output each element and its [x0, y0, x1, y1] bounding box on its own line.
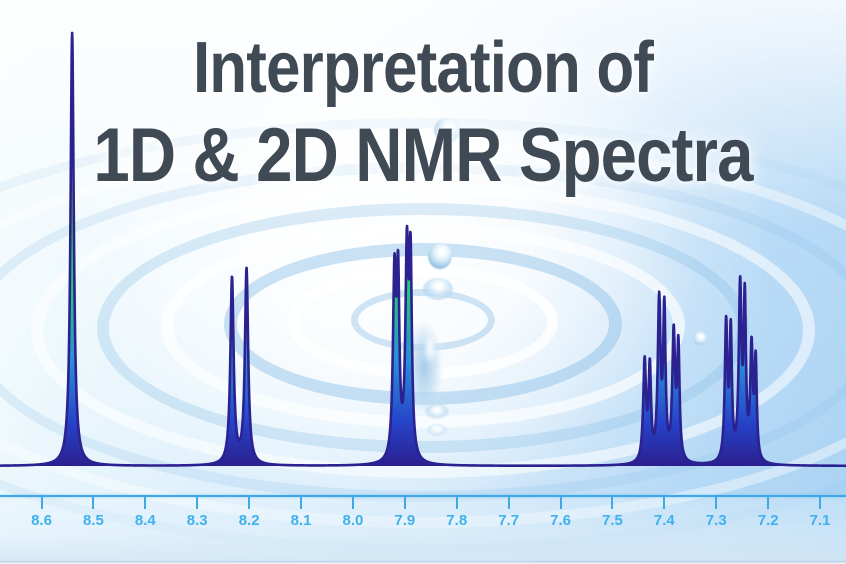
- axis-tick: [508, 496, 510, 509]
- axis-tick: [248, 496, 250, 509]
- nmr-poster: Interpretation of 1D & 2D NMR Spectra: [0, 0, 846, 564]
- axis-tick: [196, 496, 198, 509]
- axis-tick: [92, 496, 94, 509]
- ppm-axis: 8.68.58.48.38.28.18.07.97.87.77.67.57.47…: [0, 495, 846, 564]
- axis-tick-label: 8.1: [291, 512, 312, 529]
- axis-tick: [611, 496, 613, 509]
- axis-tick-label: 7.7: [498, 512, 519, 529]
- axis-tick-label: 8.0: [342, 512, 363, 529]
- axis-tick: [767, 496, 769, 509]
- axis-tick-label: 7.6: [550, 512, 571, 529]
- axis-tick-label: 8.5: [83, 512, 104, 529]
- axis-tick: [300, 496, 302, 509]
- axis-tick-label: 8.4: [135, 512, 156, 529]
- page-title: Interpretation of 1D & 2D NMR Spectra: [0, 28, 846, 198]
- axis-tick: [404, 496, 406, 509]
- axis-tick-label: 7.2: [758, 512, 779, 529]
- axis-tick-label: 8.6: [31, 512, 52, 529]
- axis-tick: [560, 496, 562, 509]
- axis-tick: [144, 496, 146, 509]
- axis-tick-label: 7.1: [810, 512, 831, 529]
- axis-tick: [663, 496, 665, 509]
- title-line-2: 1D & 2D NMR Spectra: [59, 114, 787, 198]
- axis-tick-label: 7.4: [654, 512, 675, 529]
- axis-tick-label: 7.8: [446, 512, 467, 529]
- title-line-1: Interpretation of: [59, 28, 787, 108]
- axis-tick: [715, 496, 717, 509]
- axis-tick: [456, 496, 458, 509]
- axis-tick-label: 8.3: [187, 512, 208, 529]
- axis-tick-label: 7.3: [706, 512, 727, 529]
- axis-line: [0, 495, 846, 497]
- axis-tick: [41, 496, 43, 509]
- axis-tick-label: 7.9: [394, 512, 415, 529]
- axis-tick-label: 7.5: [602, 512, 623, 529]
- axis-tick: [352, 496, 354, 509]
- axis-tick-label: 8.2: [239, 512, 260, 529]
- axis-tick: [819, 496, 821, 509]
